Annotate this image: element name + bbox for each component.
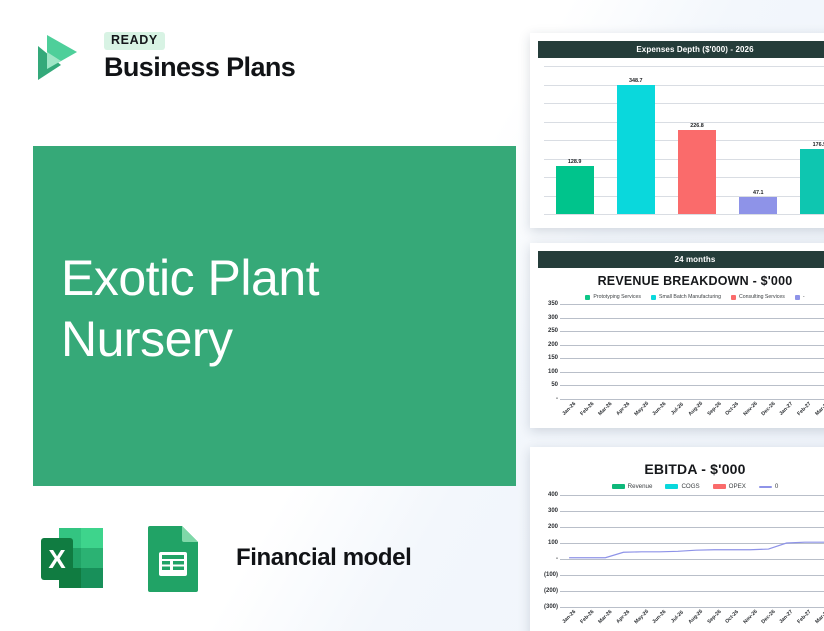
legend-swatch-icon [795,295,800,300]
x-axis-tick: Sep-26 [705,614,723,620]
x-axis-tick-label: Feb-26 [579,609,595,625]
legend-item: OPEX [713,483,746,490]
stacked-bar-column [687,495,705,607]
stacked-bar-column [560,495,578,607]
legend-label: - [803,294,805,300]
bar [800,149,824,214]
stacked-bar-column [796,304,814,399]
svg-text:X: X [48,544,66,574]
stacked-bar-column [578,304,596,399]
legend-item: Revenue [612,483,653,490]
brand-logo: READY Business Plans [28,25,295,87]
x-axis-tick-label: Apr-26 [616,609,632,625]
stacked-bar-column [741,495,759,607]
slide-canvas: READY Business Plans Exotic Plant Nurser… [0,0,824,631]
legend-swatch-icon [612,484,625,489]
stacked-bar-column [669,495,687,607]
y-axis-tick-label: (100) [534,572,558,578]
x-axis-tick-label: Sep-26 [706,609,722,625]
stacked-bar-column [741,304,759,399]
stacked-bar-column [778,495,796,607]
x-axis-tick-label: May-26 [633,609,650,626]
stacked-bar-column [651,304,669,399]
x-axis-tick: Jan-26 [560,614,578,620]
stacked-bar-column [814,495,824,607]
x-axis-tick-label: Jan-27 [779,609,795,625]
expenses-chart-header: Expenses Depth ($'000) - 2026 [538,41,824,58]
ebitda-x-axis-labels: Jan-26Feb-26Mar-26Apr-26May-26Jun-26Jul-… [560,614,824,620]
bar-value-label: 47.1 [753,190,764,196]
legend-label: Small Batch Manufacturing [659,294,721,300]
legend-item: Consulting Services [731,294,785,300]
chart-card-revenue[interactable]: 24 months REVENUE BREAKDOWN - $'000 Prot… [530,243,824,428]
x-axis-tick-label: Aug-26 [688,609,705,626]
legend-item: Prototyping Services [585,294,641,300]
stacked-bar-column [651,495,669,607]
stacked-bar-column [759,304,777,399]
legend-item: 0 [759,483,778,490]
revenue-chart-header: 24 months [538,251,824,268]
revenue-x-axis-labels: Jan-26Feb-26Mar-26Apr-26May-26Jun-26Jul-… [560,406,824,412]
x-axis-tick: Oct-26 [723,406,741,412]
x-axis-tick: Dec-26 [759,614,777,620]
stacked-bar-column [705,495,723,607]
x-axis-tick: Feb-26 [578,406,596,412]
chart-card-ebitda[interactable]: EBITDA - $'000 RevenueCOGSOPEX0 40030020… [530,447,824,631]
stacked-bar-column [669,304,687,399]
y-axis-tick-label: 100 [534,369,558,375]
legend-item: - [795,294,805,300]
x-axis-tick-label: Oct-26 [724,401,740,417]
chart-card-expenses[interactable]: Expenses Depth ($'000) - 2026 128.9348.7… [530,33,824,228]
x-axis-tick-label: Jul-26 [670,402,685,417]
y-axis-tick-label: (200) [534,588,558,594]
bar-value-label: 176.5 [813,142,824,148]
y-axis-tick-label: 200 [534,524,558,530]
x-axis-tick-label: May-26 [633,401,650,418]
legend-swatch-icon [651,295,656,300]
ebitda-chart-legend: RevenueCOGSOPEX0 [530,483,824,490]
bar-column: 176.5 [789,66,824,214]
x-axis-tick-label: Dec-26 [760,609,776,625]
x-axis-tick-label: Feb-26 [579,401,595,417]
x-axis-tick: Aug-26 [687,614,705,620]
x-axis-tick: Mar-27 [814,614,824,620]
x-axis-tick-label: Oct-26 [724,609,740,625]
format-row: X Financial model [33,518,411,598]
bar [556,166,594,214]
stacked-bar-column [778,304,796,399]
x-axis-tick: Jan-27 [778,614,796,620]
y-axis-tick-label: 250 [534,328,558,334]
x-axis-tick: Jan-27 [778,406,796,412]
y-axis-tick-label: 350 [534,301,558,307]
ready-badge: READY [104,32,165,50]
microsoft-excel-icon: X [33,518,113,598]
y-axis-tick-label: 100 [534,540,558,546]
bar [678,130,716,214]
x-axis-tick: Mar-26 [596,614,614,620]
google-sheets-icon [132,518,212,598]
legend-swatch-icon [713,484,726,489]
x-axis-tick: Feb-26 [578,614,596,620]
stacked-bar-column [596,495,614,607]
x-axis-tick-label: Feb-27 [797,401,813,417]
hero-panel: Exotic Plant Nursery [33,146,516,486]
stacked-bar-column [814,304,824,399]
x-axis-tick: Feb-27 [796,614,814,620]
x-axis-tick: Jan-26 [560,406,578,412]
legend-label: Prototyping Services [593,294,641,300]
x-axis-tick: May-26 [633,614,651,620]
revenue-chart-legend: Prototyping ServicesSmall Batch Manufact… [530,294,824,300]
x-axis-tick-label: Nov-26 [742,401,758,417]
stacked-bar-column [560,304,578,399]
ebitda-chart-title: EBITDA - $'000 [530,461,824,477]
legend-swatch-icon [731,295,736,300]
stacked-bar-column [759,495,777,607]
legend-item: Small Batch Manufacturing [651,294,721,300]
y-axis-tick-label: 50 [534,382,558,388]
x-axis-tick-label: Dec-26 [760,401,776,417]
x-axis-tick-label: Jun-26 [652,609,668,625]
legend-item: COGS [665,483,699,490]
legend-swatch-icon [759,486,772,488]
expenses-bar-chart: 128.9348.7226.847.1176.5 [538,66,824,214]
bar-value-label: 128.9 [568,159,582,165]
legend-label: Consulting Services [739,294,785,300]
x-axis-tick-label: Jan-26 [561,609,577,625]
x-axis-tick: Sep-26 [705,406,723,412]
ebitda-stacked-bar-chart: 400300200100-(100)(200)(300) [534,495,824,607]
x-axis-tick-label: Mar-27 [815,401,824,417]
x-axis-tick: Apr-26 [614,614,632,620]
x-axis-tick: Jun-26 [651,406,669,412]
x-axis-tick: Jul-26 [669,406,687,412]
x-axis-tick-label: Jan-27 [779,401,795,417]
bar-column: 47.1 [728,66,789,214]
bar [617,85,655,214]
stacked-bar-column [796,495,814,607]
bar-column: 226.8 [666,66,727,214]
legend-label: OPEX [729,483,746,490]
x-axis-tick: Oct-26 [723,614,741,620]
x-axis-tick-label: Mar-27 [815,609,824,625]
bar-column: 128.9 [544,66,605,214]
x-axis-tick-label: Jul-26 [670,610,685,625]
x-axis-tick-label: Mar-26 [597,401,613,417]
x-axis-tick-label: Feb-27 [797,609,813,625]
y-axis-tick-label: 400 [534,492,558,498]
brand-name: Business Plans [104,52,295,82]
stacked-bar-column [614,495,632,607]
x-axis-tick: Nov-26 [741,406,759,412]
stacked-bar-column [723,304,741,399]
x-axis-tick: Jul-26 [669,614,687,620]
stacked-bar-column [633,495,651,607]
bar-column: 348.7 [605,66,666,214]
x-axis-tick-label: Mar-26 [597,609,613,625]
stacked-bar-column [614,304,632,399]
x-axis-tick: May-26 [633,406,651,412]
revenue-stacked-bar-chart: 35030025020015010050- [534,304,824,399]
stacked-bar-column [687,304,705,399]
legend-swatch-icon [585,295,590,300]
stacked-bar-column [633,304,651,399]
x-axis-tick-label: Nov-26 [742,609,758,625]
x-axis-tick: Apr-26 [614,406,632,412]
x-axis-tick-label: Aug-26 [688,401,705,418]
bar [739,197,777,214]
stacked-bar-column [723,495,741,607]
x-axis-tick: Aug-26 [687,406,705,412]
revenue-chart-title: REVENUE BREAKDOWN - $'000 [530,274,824,288]
y-axis-tick-label: 200 [534,342,558,348]
x-axis-tick: Feb-27 [796,406,814,412]
gridline [544,214,824,215]
x-axis-tick-label: Jun-26 [652,401,668,417]
page-title: Exotic Plant Nursery [61,248,319,370]
y-axis-tick-label: 150 [534,355,558,361]
y-axis-tick-label: 300 [534,315,558,321]
legend-label: COGS [681,483,699,490]
y-axis-tick-label: - [534,556,558,562]
x-axis-tick-label: Apr-26 [616,401,632,417]
x-axis-tick: Jun-26 [651,614,669,620]
x-axis-tick-label: Jan-26 [561,401,577,417]
stacked-bar-column [596,304,614,399]
legend-label: Revenue [628,483,653,490]
x-axis-tick: Nov-26 [741,614,759,620]
legend-label: 0 [775,483,778,490]
bar-value-label: 348.7 [629,78,643,84]
y-axis-tick-label: 300 [534,508,558,514]
format-label: Financial model [236,544,411,572]
x-axis-tick: Mar-26 [596,406,614,412]
x-axis-tick: Mar-27 [814,406,824,412]
stacked-bar-column [578,495,596,607]
legend-swatch-icon [665,484,678,489]
stacked-bar-column [705,304,723,399]
x-axis-tick-label: Sep-26 [706,401,722,417]
x-axis-tick: Dec-26 [759,406,777,412]
double-play-triangle-logo-icon [28,25,90,87]
bar-value-label: 226.8 [690,123,704,129]
